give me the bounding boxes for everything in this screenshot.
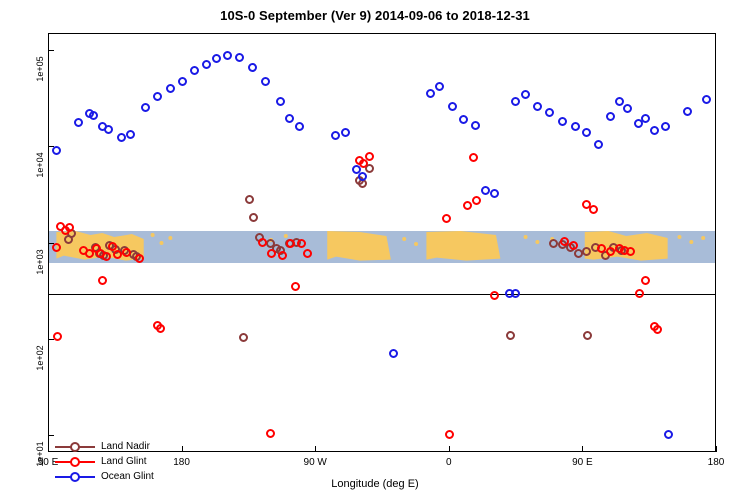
data-point bbox=[212, 54, 221, 63]
x-tick-label: 90 W bbox=[285, 457, 345, 468]
data-point bbox=[569, 241, 578, 250]
data-point bbox=[490, 189, 499, 198]
data-point bbox=[448, 102, 457, 111]
data-point bbox=[389, 349, 398, 358]
data-point bbox=[331, 131, 340, 140]
data-point bbox=[178, 77, 187, 86]
y-tick-mark bbox=[48, 339, 54, 340]
data-point bbox=[481, 186, 490, 195]
data-point bbox=[641, 114, 650, 123]
data-point bbox=[235, 53, 244, 62]
data-point bbox=[702, 95, 711, 104]
data-point bbox=[303, 249, 312, 258]
legend-marker-land-nadir bbox=[55, 441, 95, 453]
data-point bbox=[104, 125, 113, 134]
y-tick-label: 1e+04 bbox=[35, 145, 45, 185]
legend-item-land-glint[interactable]: Land Glint bbox=[55, 454, 154, 469]
data-point bbox=[435, 82, 444, 91]
legend-item-ocean-glint[interactable]: Ocean Glint bbox=[55, 469, 154, 484]
y-tick-label: 1e+03 bbox=[35, 242, 45, 282]
data-point bbox=[571, 122, 580, 131]
data-point bbox=[426, 89, 435, 98]
data-point bbox=[533, 102, 542, 111]
data-point bbox=[597, 244, 606, 253]
data-point bbox=[153, 92, 162, 101]
data-point bbox=[635, 289, 644, 298]
data-point bbox=[664, 430, 673, 439]
x-tick-mark bbox=[315, 446, 316, 452]
x-tick-label: 0 bbox=[419, 457, 479, 468]
data-point bbox=[545, 108, 554, 117]
data-point bbox=[266, 429, 275, 438]
chart-title: 10S-0 September (Ver 9) 2014-09-06 to 20… bbox=[0, 8, 750, 23]
data-point bbox=[582, 247, 591, 256]
legend-label-ocean-glint: Ocean Glint bbox=[101, 471, 154, 482]
data-point bbox=[113, 250, 122, 259]
reference-line bbox=[49, 294, 715, 295]
data-point bbox=[52, 243, 61, 252]
y-tick-label: 1e+05 bbox=[35, 49, 45, 89]
data-point bbox=[98, 276, 107, 285]
x-tick-mark bbox=[48, 446, 49, 452]
data-point bbox=[490, 291, 499, 300]
x-tick-label: 90 E bbox=[552, 457, 612, 468]
x-tick-mark bbox=[582, 446, 583, 452]
data-point bbox=[141, 103, 150, 112]
x-tick-label: 180 bbox=[152, 457, 212, 468]
data-point bbox=[156, 324, 165, 333]
data-point bbox=[117, 133, 126, 142]
legend-marker-land-glint bbox=[55, 456, 95, 468]
chart-root: 10S-0 September (Ver 9) 2014-09-06 to 20… bbox=[0, 0, 750, 500]
data-point bbox=[511, 289, 520, 298]
data-point bbox=[650, 126, 659, 135]
data-point bbox=[276, 97, 285, 106]
data-point bbox=[166, 84, 175, 93]
data-point bbox=[53, 332, 62, 341]
data-point bbox=[661, 122, 670, 131]
y-tick-label: 1e+02 bbox=[35, 338, 45, 378]
data-point bbox=[295, 122, 304, 131]
data-point bbox=[223, 51, 232, 60]
data-point bbox=[583, 331, 592, 340]
x-tick-label: 180 bbox=[686, 457, 746, 468]
data-point bbox=[261, 77, 270, 86]
data-point bbox=[558, 117, 567, 126]
data-point bbox=[459, 115, 468, 124]
x-tick-mark bbox=[449, 446, 450, 452]
data-point bbox=[126, 130, 135, 139]
data-point bbox=[65, 223, 74, 232]
data-point bbox=[641, 276, 650, 285]
x-tick-mark bbox=[716, 446, 717, 452]
data-point bbox=[521, 90, 530, 99]
legend-item-land-nadir[interactable]: Land Nadir bbox=[55, 439, 154, 454]
legend-label-land-nadir: Land Nadir bbox=[101, 441, 150, 452]
data-point bbox=[122, 248, 131, 257]
y-tick-mark bbox=[48, 243, 54, 244]
data-point bbox=[190, 66, 199, 75]
chart-legend: Land NadirLand GlintOcean Glint bbox=[55, 439, 154, 484]
data-point bbox=[297, 239, 306, 248]
y-tick-mark bbox=[48, 146, 54, 147]
data-point bbox=[245, 195, 254, 204]
data-point bbox=[89, 111, 98, 120]
plot-area bbox=[48, 33, 716, 452]
data-point bbox=[589, 205, 598, 214]
data-point bbox=[594, 140, 603, 149]
data-point bbox=[365, 152, 374, 161]
data-point bbox=[560, 237, 569, 246]
data-point bbox=[615, 97, 624, 106]
y-tick-mark bbox=[48, 435, 54, 436]
data-point bbox=[623, 104, 632, 113]
legend-label-land-glint: Land Glint bbox=[101, 456, 147, 467]
data-point bbox=[248, 63, 257, 72]
legend-marker-ocean-glint bbox=[55, 471, 95, 483]
data-point bbox=[511, 97, 520, 106]
data-point bbox=[469, 153, 478, 162]
data-point bbox=[239, 333, 248, 342]
data-point bbox=[582, 128, 591, 137]
data-point bbox=[683, 107, 692, 116]
data-point bbox=[358, 172, 367, 181]
data-point bbox=[285, 114, 294, 123]
data-point bbox=[472, 196, 481, 205]
data-point bbox=[291, 282, 300, 291]
data-point bbox=[442, 214, 451, 223]
data-point bbox=[341, 128, 350, 137]
data-point bbox=[506, 331, 515, 340]
data-point bbox=[445, 430, 454, 439]
data-point bbox=[249, 213, 258, 222]
data-point bbox=[267, 249, 276, 258]
data-point bbox=[653, 325, 662, 334]
data-point bbox=[74, 118, 83, 127]
data-point bbox=[463, 201, 472, 210]
data-point bbox=[471, 121, 480, 130]
data-point bbox=[202, 60, 211, 69]
data-point bbox=[358, 179, 367, 188]
x-tick-mark bbox=[182, 446, 183, 452]
data-point bbox=[606, 112, 615, 121]
data-point bbox=[606, 247, 615, 256]
y-tick-mark bbox=[48, 50, 54, 51]
